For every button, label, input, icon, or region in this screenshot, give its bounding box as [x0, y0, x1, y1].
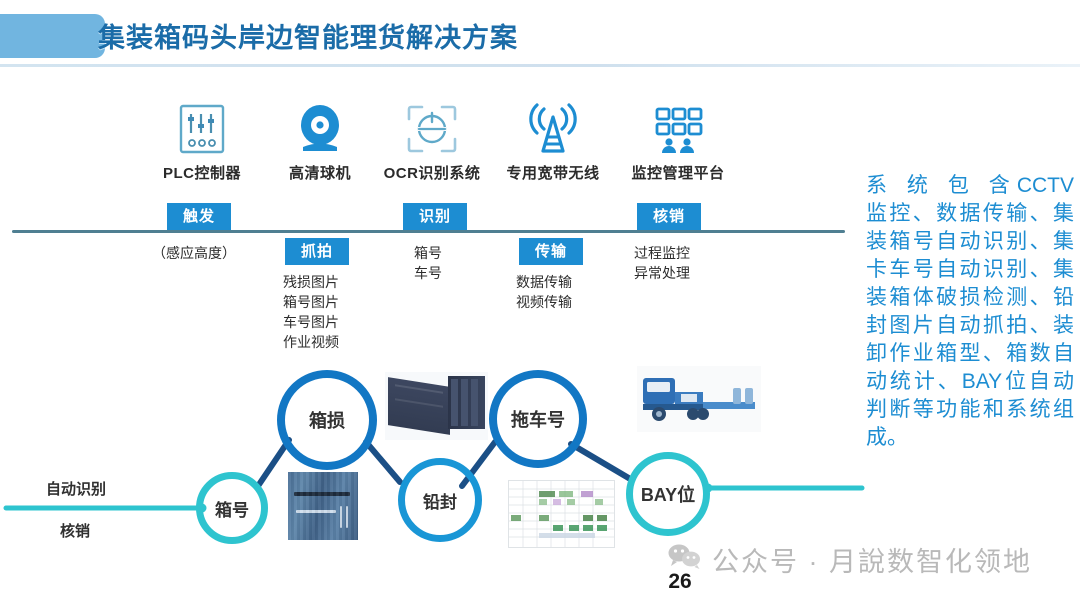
- caption-capture-line-3: 作业视频: [283, 332, 339, 352]
- flow-node-container-number[interactable]: 箱号: [196, 472, 268, 544]
- system-description-lead: 系 统 包 含: [866, 174, 1017, 197]
- slide-root: 集装箱码头岸边智能理货解决方案 PLC控制器: [0, 0, 1080, 608]
- badge-capture: 抓拍: [285, 238, 349, 265]
- system-description: 系 统 包 含CCTV监控、数据传输、集装箱号自动识别、集卡车号自动识别、集装箱…: [866, 172, 1074, 452]
- header-divider: [0, 64, 1080, 67]
- icon-item-platform: 监控管理平台: [598, 100, 758, 183]
- monitoring-platform-icon: [598, 100, 758, 158]
- icon-label-platform: 监控管理平台: [598, 162, 758, 183]
- badge-transmit: 传输: [519, 238, 583, 265]
- flow-node-container-number-label: 箱号: [215, 496, 249, 521]
- slide-header: 集装箱码头岸边智能理货解决方案: [0, 14, 1080, 62]
- caption-transmit: 数据传输 视频传输: [516, 272, 572, 312]
- bay-plan-photo: [508, 480, 615, 548]
- flow-node-trailer-number-label: 拖车号: [511, 406, 565, 432]
- flow-node-seal[interactable]: 铅封: [398, 458, 482, 542]
- caption-transmit-line-0: 数据传输: [516, 272, 572, 292]
- watermark-text: 公众号 · 月說数智化领地: [712, 540, 1032, 579]
- wechat-watermark: 公众号 · 月說数智化领地: [668, 540, 1032, 579]
- caption-capture-line-1: 箱号图片: [283, 292, 339, 312]
- flow-node-trailer-number[interactable]: 拖车号: [489, 370, 587, 468]
- caption-writeoff-line-1: 异常处理: [634, 263, 690, 283]
- caption-transmit-line-1: 视频传输: [516, 292, 572, 312]
- flow-entry-label-auto-recognition: 自动识别: [46, 478, 106, 499]
- flow-node-container-damage[interactable]: 箱损: [277, 370, 377, 470]
- page-number: 26: [640, 570, 720, 594]
- caption-capture-line-2: 车号图片: [283, 312, 339, 332]
- badge-writeoff: 核销: [637, 203, 701, 230]
- page-title: 集装箱码头岸边智能理货解决方案: [98, 16, 518, 55]
- caption-writeoff: 过程监控 异常处理: [634, 243, 690, 283]
- flow-node-bay-position-label: BAY位: [641, 481, 695, 507]
- timeline-axis: [12, 230, 845, 233]
- caption-writeoff-line-0: 过程监控: [634, 243, 690, 263]
- caption-capture-line-0: 残损图片: [283, 272, 339, 292]
- caption-recognize-line-0: 箱号: [414, 243, 442, 263]
- flow-node-seal-label: 铅封: [423, 488, 457, 513]
- badge-recognize: 识别: [403, 203, 467, 230]
- caption-trigger-line-0: （感应高度）: [152, 243, 236, 263]
- container-photo: [385, 372, 488, 440]
- caption-recognize: 箱号 车号: [414, 243, 442, 283]
- process-flow-diagram: 箱号 箱损 铅封 拖车号 BAY位 自动识别 核销: [0, 360, 880, 560]
- flow-entry-label-writeoff: 核销: [60, 520, 90, 541]
- flow-node-bay-position[interactable]: BAY位: [626, 452, 710, 536]
- caption-recognize-line-1: 车号: [414, 263, 442, 283]
- header-accent-tab: [0, 14, 105, 58]
- top-icon-row: PLC控制器 高清球机: [0, 100, 860, 195]
- caption-capture: 残损图片 箱号图片 车号图片 作业视频: [283, 272, 339, 352]
- system-description-body: CCTV监控、数据传输、集装箱号自动识别、集卡车号自动识别、集装箱体破损检测、铅…: [866, 174, 1074, 449]
- flow-node-container-damage-label: 箱损: [309, 407, 345, 433]
- badge-trigger: 触发: [167, 203, 231, 230]
- truck-photo: [637, 366, 761, 432]
- caption-trigger: （感应高度）: [152, 243, 236, 263]
- container-door-photo: [288, 472, 358, 540]
